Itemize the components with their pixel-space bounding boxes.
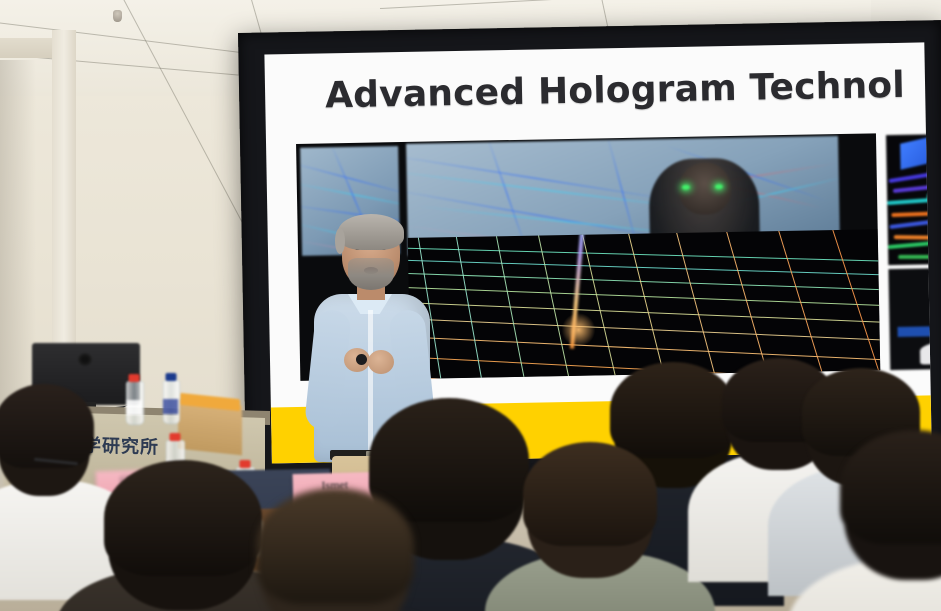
sprinkler-icon bbox=[113, 10, 122, 22]
audience-hair bbox=[0, 384, 94, 468]
bottle-cap bbox=[129, 374, 140, 382]
audience-member bbox=[236, 498, 436, 611]
bottle-cap bbox=[169, 433, 180, 441]
ar-glasses-led-right bbox=[715, 184, 723, 189]
ceiling-grid-line bbox=[380, 0, 941, 9]
presentation-clicker bbox=[356, 354, 367, 365]
hologram-beam bbox=[570, 229, 587, 348]
slide-panel-pointcloud bbox=[886, 133, 932, 266]
hologram-beam-glow bbox=[561, 313, 596, 348]
podium-cardboard-box bbox=[178, 399, 242, 456]
bottle-body bbox=[126, 381, 144, 425]
slide-panel-lab-photo bbox=[888, 267, 931, 371]
audience-hair bbox=[256, 488, 414, 604]
lecture-hall-photo: Advanced Hologram Technol bbox=[0, 0, 941, 611]
hologram-mesh bbox=[408, 229, 881, 379]
bottle-cap bbox=[165, 373, 176, 381]
audience-member bbox=[505, 452, 675, 611]
ar-hand-marker-left bbox=[680, 243, 689, 250]
bottle-cap bbox=[239, 460, 250, 468]
audience-hair bbox=[840, 430, 941, 544]
water-bottle bbox=[126, 381, 142, 423]
ar-operator-figure bbox=[648, 157, 760, 279]
slide-title: Advanced Hologram Technol bbox=[325, 65, 905, 117]
presenter-beard bbox=[348, 258, 394, 290]
bottle-body bbox=[163, 380, 180, 424]
audience-hair bbox=[523, 442, 657, 546]
presenter-hand-right bbox=[368, 350, 394, 374]
ar-glasses-led-left bbox=[682, 185, 690, 190]
ar-operator-head bbox=[678, 162, 731, 215]
audience-member bbox=[828, 440, 941, 611]
ar-hand-marker-right bbox=[712, 242, 721, 249]
water-bottle bbox=[163, 380, 178, 422]
monitor-webcam-icon bbox=[78, 353, 92, 366]
wireframe-monitor-center bbox=[406, 136, 840, 256]
presenter-hair bbox=[338, 214, 404, 250]
pointcloud-blue-box bbox=[900, 133, 932, 170]
